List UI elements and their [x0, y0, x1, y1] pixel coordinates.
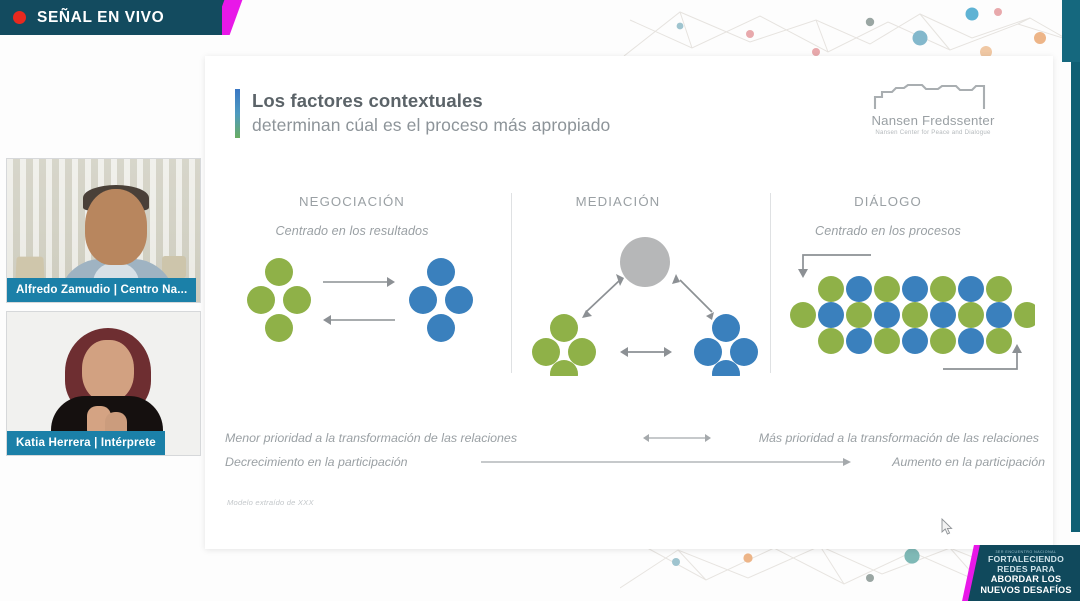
slide-subtitle: determinan cúal es el proceso más apropi… — [252, 114, 610, 138]
participant-tile-2[interactable]: Katia Herrera | Intérprete — [6, 311, 201, 456]
logo-tagline: Nansen Center for Peace and Dialogue — [858, 129, 1008, 136]
title-accent-bar — [235, 89, 240, 138]
column-subtitle: Centrado en los resultados — [227, 224, 477, 238]
column-title: MEDIACIÓN — [493, 194, 743, 209]
presentation-slide: Los factores contextuales determinan cúa… — [205, 56, 1053, 549]
axis-right-label: Más prioridad a la transformación de las… — [729, 431, 1039, 445]
column-header-negociacion: NEGOCIACIÓN Centrado en los resultados — [227, 194, 477, 238]
axis-left-label: Menor prioridad a la transformación de l… — [225, 431, 625, 445]
column-subtitle: Centrado en los procesos — [763, 224, 1013, 238]
teal-edge-right — [1071, 62, 1080, 532]
live-record-icon — [13, 11, 26, 24]
branding-text: 3ER ENCUENTRO NACIONAL FORTALECIENDO RED… — [968, 545, 1080, 601]
mediator-circle — [620, 237, 670, 287]
mouse-cursor — [940, 518, 954, 536]
axis-right-label: Aumento en la participación — [865, 455, 1045, 469]
participant-name-label-2: Katia Herrera | Intérprete — [7, 431, 165, 455]
live-badge-label: SEÑAL EN VIVO — [37, 9, 164, 27]
diagram-mediacion — [520, 236, 770, 376]
column-header-mediacion: MEDIACIÓN — [493, 194, 743, 224]
person-head — [85, 189, 147, 265]
axis-left-label: Decrecimiento en la participación — [225, 455, 465, 469]
stream-viewport: SEÑAL EN VIVO Los factores contextuales … — [0, 0, 1080, 601]
logo-name: Nansen Fredssenter — [858, 113, 1008, 128]
teal-edge-top — [1062, 0, 1080, 62]
axis-row-relaciones: Menor prioridad a la transformación de l… — [225, 426, 1045, 450]
slide-title-block: Los factores contextuales determinan cúa… — [235, 89, 610, 138]
participant-tile-1[interactable]: Alfredo Zamudio | Centro Na... — [6, 158, 201, 303]
axis-arrow-2 — [475, 456, 855, 468]
branding-line-2: REDES PARA — [978, 565, 1074, 575]
slide-footnote: Modelo extraído de XXX — [227, 498, 314, 507]
branding-line-3: ABORDAR LOS — [978, 574, 1074, 584]
column-title: DIÁLOGO — [763, 194, 1013, 209]
branding-line-4: NUEVOS DESAFÍOS — [978, 585, 1074, 595]
nansen-building-icon — [872, 84, 994, 110]
slide-title: Los factores contextuales — [252, 89, 610, 114]
participant-name-label-1: Alfredo Zamudio | Centro Na... — [7, 278, 196, 302]
column-header-dialogo: DIÁLOGO Centrado en los procesos — [763, 194, 1013, 238]
axis-arrow-1 — [637, 432, 717, 444]
diagram-negociacion — [235, 256, 485, 366]
diagram-dialogo — [785, 241, 1035, 376]
column-title: NEGOCIACIÓN — [227, 194, 477, 209]
axis-comparison: Menor prioridad a la transformación de l… — [225, 426, 1045, 474]
live-badge: SEÑAL EN VIVO — [0, 0, 222, 35]
axis-row-participacion: Decrecimiento en la participación Aument… — [225, 450, 1045, 474]
person-head — [82, 340, 134, 402]
nansen-logo: Nansen Fredssenter Nansen Center for Pea… — [858, 84, 1008, 136]
